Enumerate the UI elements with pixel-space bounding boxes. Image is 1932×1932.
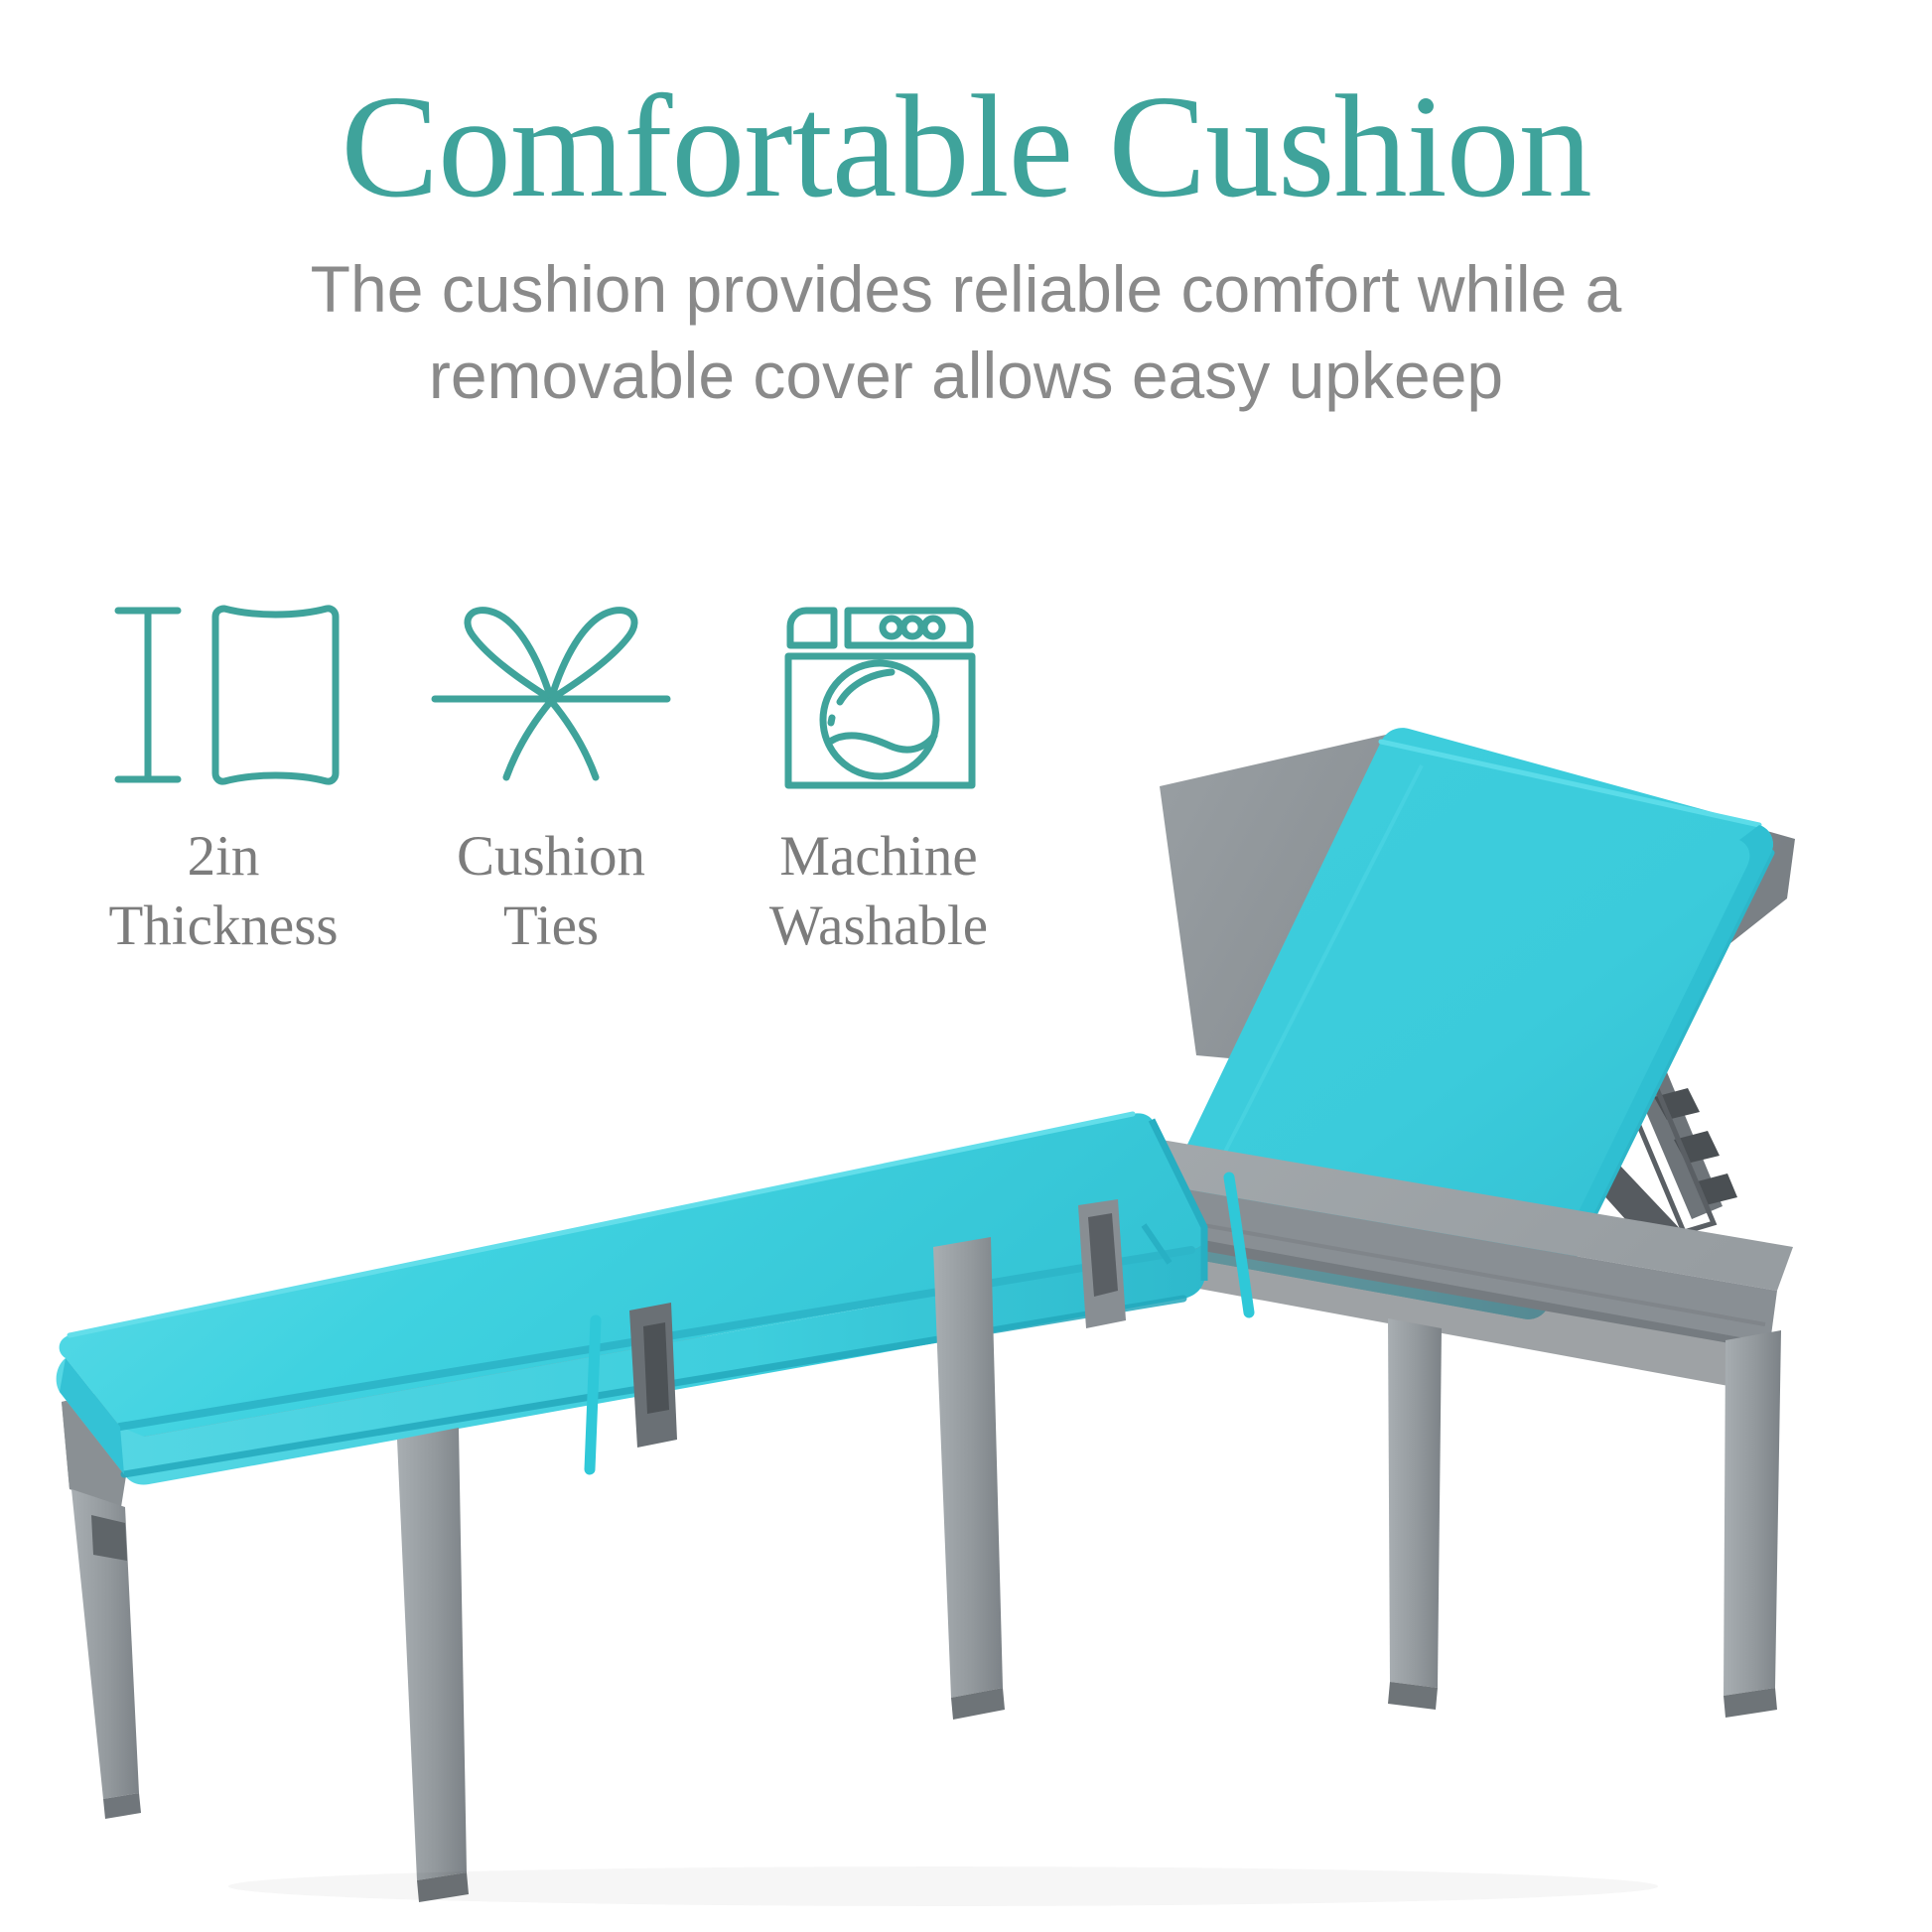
seat-cushion-thickness: [57, 1227, 1206, 1485]
backrest-ratchet-mechanism: [1529, 1044, 1737, 1249]
legs: [71, 1199, 1781, 1902]
feature-label-thickness: 2inThickness: [108, 822, 338, 960]
leg-mid-rear: [629, 1303, 677, 1448]
leg-rear-right: [1388, 1318, 1442, 1688]
feature-label-thickness-line1: 2in: [188, 825, 260, 888]
backrest-cushion-face: [1145, 728, 1773, 1319]
frame-far-apron: [1147, 1183, 1777, 1350]
backrest-cushion-thickness: [1147, 1220, 1549, 1319]
frame-center-gap: [1138, 1185, 1168, 1289]
feature-label-washable: MachineWashable: [769, 822, 988, 960]
seat-cushion-piping-rear: [69, 1114, 1133, 1335]
seat-cushion-left-cap: [60, 1358, 124, 1474]
feature-label-ties-line1: Cushion: [457, 825, 645, 888]
leg-rear-center: [933, 1237, 1003, 1698]
product-shadow: [228, 1866, 1658, 1906]
seat-frame: [62, 1140, 1793, 1507]
feature-item-thickness: 2inThickness: [60, 596, 387, 960]
leg-center-front: [397, 1428, 467, 1880]
feature-label-ties: CushionTies: [457, 822, 645, 960]
backrest-assembly: [1145, 728, 1795, 1319]
backrest-piping-top: [1381, 742, 1759, 825]
seat-cushion: [57, 1113, 1206, 1484]
page-title: Comfortable Cushion: [0, 0, 1932, 224]
backrest-frame: [1160, 730, 1795, 1087]
cushion-tie-front: [590, 1320, 596, 1469]
washing-machine-icon: [772, 596, 986, 794]
cushion-hinge-seam: [1144, 1225, 1170, 1263]
leg-far-right: [1724, 1330, 1781, 1696]
feature-item-ties: CushionTies: [387, 596, 715, 960]
leg-far-short: [1078, 1199, 1126, 1328]
leg-front-left: [71, 1489, 139, 1799]
seat-cushion-face: [60, 1113, 1206, 1437]
frame-left-apron: [62, 1140, 1160, 1489]
page-subtitle: The cushion provides reliable comfort wh…: [261, 224, 1671, 419]
feature-label-washable-line2: Washable: [769, 895, 988, 957]
bow-tie-icon: [427, 596, 675, 794]
feature-label-ties-line2: Ties: [503, 895, 599, 957]
product-feature-image: Comfortable Cushion The cushion provides…: [0, 0, 1932, 1932]
cushion-tie-rear: [1229, 1177, 1249, 1312]
feature-label-thickness-line2: Thickness: [108, 895, 338, 957]
cushion-tie-straps: [590, 1177, 1249, 1469]
seat-cushion-piping-bottom: [124, 1299, 1183, 1474]
frame-top-surface: [62, 1140, 1793, 1442]
seat-cushion-piping-front: [120, 1250, 1191, 1427]
frame-slat-recess: [1177, 1236, 1745, 1388]
frame-front-apron: [62, 1402, 134, 1507]
feature-list: 2inThickness CushionTies: [60, 596, 1112, 960]
feature-item-washable: MachineWashable: [715, 596, 1042, 960]
backrest-piping-right: [1549, 853, 1771, 1306]
backrest-cushion-edge-right: [1549, 825, 1773, 1306]
cushion-thickness-icon: [104, 596, 343, 794]
header: Comfortable Cushion The cushion provides…: [0, 0, 1932, 419]
seat-cushion-corner-fold: [1152, 1120, 1204, 1281]
feature-label-washable-line1: Machine: [779, 825, 977, 888]
